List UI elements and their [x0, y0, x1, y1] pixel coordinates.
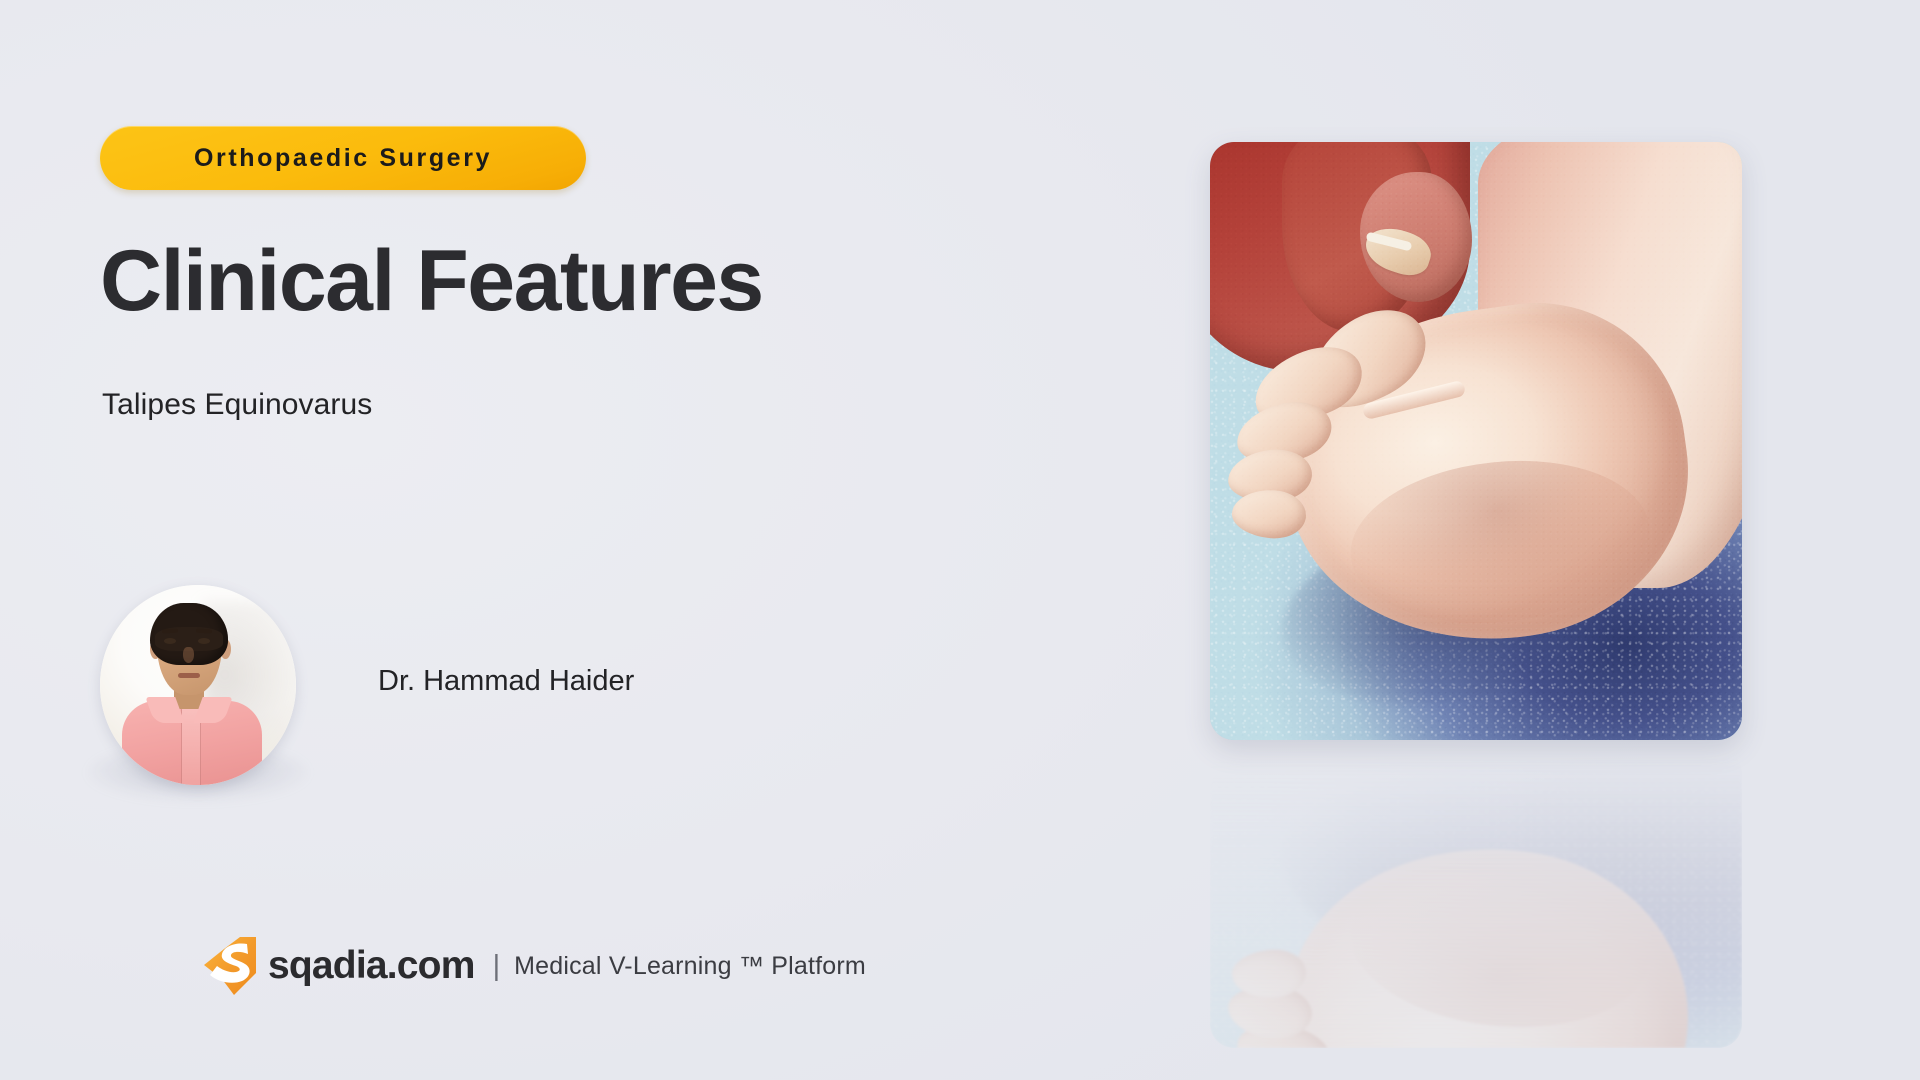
avatar-shirt	[122, 701, 262, 785]
photo-film-grain	[1210, 142, 1742, 740]
footer-tagline: Medical V-Learning ™ Platform	[514, 952, 866, 981]
presenter-block: Dr. Hammad Haider	[100, 585, 800, 795]
clinical-photo-card	[1210, 142, 1742, 740]
sqadia-logo-icon	[200, 935, 258, 997]
clinical-photo	[1210, 142, 1742, 740]
avatar-nose	[183, 647, 194, 663]
slide-left-column: Orthopaedic Surgery Clinical Features Ta…	[100, 0, 900, 1080]
clinical-photo-reflection	[1210, 748, 1742, 1048]
category-badge[interactable]: Orthopaedic Surgery	[100, 126, 586, 190]
avatar-photo	[100, 585, 296, 785]
page-subtitle: Talipes Equinovarus	[102, 388, 372, 422]
clinical-photo-mirror	[1210, 748, 1742, 1048]
avatar	[100, 585, 296, 785]
presenter-name: Dr. Hammad Haider	[378, 665, 634, 698]
brand-name: sqadia.com	[268, 944, 475, 988]
page-title: Clinical Features	[100, 236, 763, 326]
footer-divider: |	[493, 950, 501, 983]
avatar-eye-right	[198, 638, 210, 644]
avatar-mouth	[178, 673, 200, 678]
presentation-slide: Orthopaedic Surgery Clinical Features Ta…	[0, 0, 1920, 1080]
avatar-eye-left	[164, 638, 176, 644]
footer-branding: sqadia.com | Medical V-Learning ™ Platfo…	[200, 935, 866, 997]
category-badge-label: Orthopaedic Surgery	[194, 144, 492, 173]
